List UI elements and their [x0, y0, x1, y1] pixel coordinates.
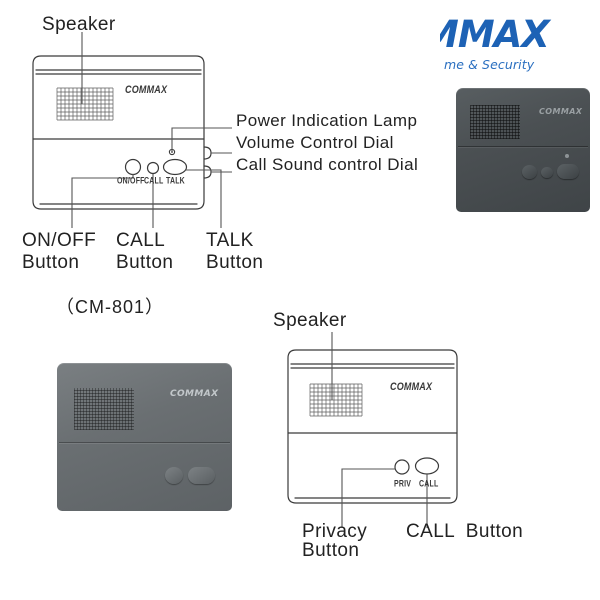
call-button-shape [148, 163, 159, 174]
callout-call-sound-control-dial: Call Sound control Dial [236, 155, 418, 175]
photo-dark-speaker-grille [470, 105, 520, 139]
callout-privacy-button-line2: Button [302, 540, 359, 562]
call-micro-label-bottom: CALL [419, 480, 438, 489]
photo-dark-divider [458, 146, 588, 147]
callout-speaker-bottom: Speaker [273, 310, 347, 332]
talk-micro-label: TALK [166, 177, 185, 186]
photo-dark-button-2 [541, 167, 553, 178]
product-photo-grey-two-button: COMMAX [57, 363, 232, 511]
photo-grey-brand-mark: COMMAX [170, 389, 218, 399]
speaker-grille-bottom [310, 384, 362, 416]
callout-talk-button-line2: Button [206, 252, 263, 274]
photo-dark-button-3 [557, 164, 579, 179]
model-label-cm-801: （CM-801） [56, 293, 164, 319]
leader-power-lamp [172, 128, 232, 152]
privacy-button-shape [395, 460, 409, 474]
photo-grey-divider [59, 442, 230, 443]
call-button-shape-bottom [416, 458, 439, 474]
callout-onoff-button-line1: ON/OFF [22, 230, 96, 252]
callout-onoff-button-line2: Button [22, 252, 79, 274]
callout-talk-button-line1: TALK [206, 230, 254, 252]
call-micro-label: CALL [144, 177, 163, 186]
product-photo-dark-three-button: COMMAX [456, 88, 590, 212]
onoff-micro-label: ON/OFF [117, 177, 145, 186]
cm-800-device-brand-mark: COMMAX [390, 380, 432, 393]
callout-call-button-bottom: CALL Button [406, 521, 523, 543]
onoff-button-shape [126, 160, 141, 175]
photo-grey-button-2 [188, 467, 215, 484]
photo-grey-body [57, 363, 232, 511]
photo-dark-brand-mark: COMMAX [539, 107, 582, 116]
photo-dark-led [565, 154, 569, 158]
speaker-grille-top [57, 88, 113, 120]
callout-speaker-top: Speaker [42, 14, 116, 36]
priv-micro-label: PRIV [394, 480, 411, 489]
photo-grey-speaker-grille [74, 388, 134, 430]
callout-call-button-line2: Button [116, 252, 173, 274]
photo-dark-button-1 [522, 165, 537, 179]
callout-power-indication-lamp: Power Indication Lamp [236, 111, 417, 131]
callout-volume-control-dial: Volume Control Dial [236, 133, 394, 153]
photo-grey-button-1 [165, 467, 183, 484]
cm-801-device-brand-mark: COMMAX [125, 83, 167, 96]
talk-button-shape [164, 160, 187, 175]
callout-call-button-line1: CALL [116, 230, 165, 252]
